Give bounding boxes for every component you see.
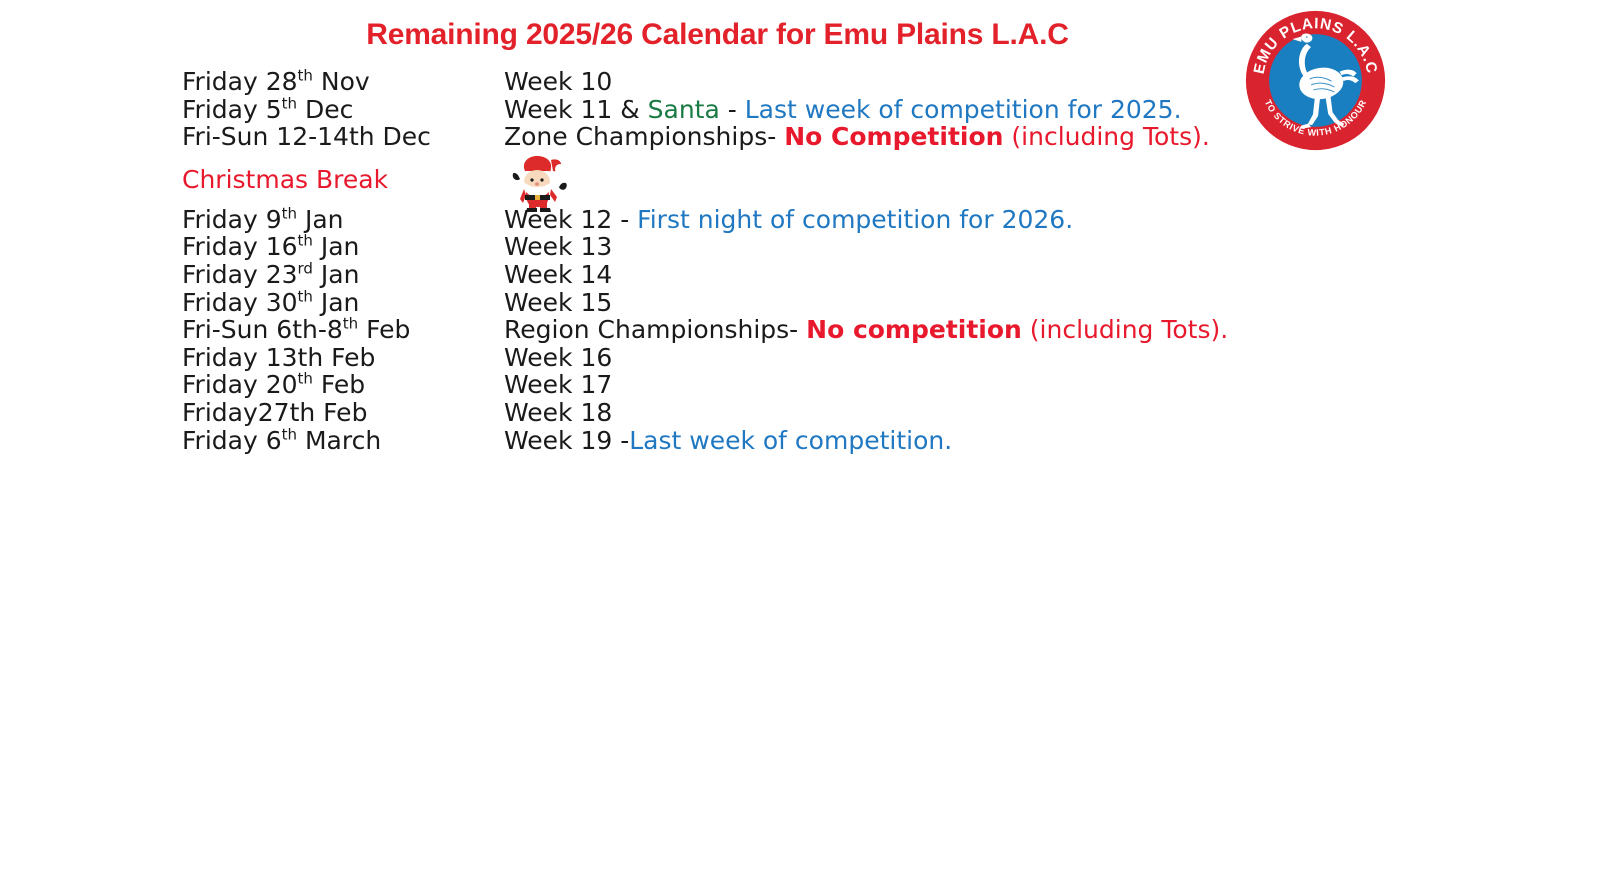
calendar-description-cell: Week 17 <box>504 371 1482 399</box>
description-segment: Week 17 <box>504 370 612 399</box>
description-segment: First night of competition for 2026. <box>637 205 1073 234</box>
calendar-description-cell: Week 15 <box>504 289 1482 317</box>
calendar-row: Friday 6th MarchWeek 19 -Last week of co… <box>182 427 1482 455</box>
description-segment: Week 13 <box>504 232 612 261</box>
description-segment: Week 10 <box>504 67 612 96</box>
calendar-row: Fri-Sun 6th-8th FebRegion Championships-… <box>182 316 1482 344</box>
description-segment: Zone Championships- <box>504 122 784 151</box>
christmas-break-label: Christmas Break <box>182 151 504 194</box>
calendar-description-cell: Week 16 <box>504 344 1482 372</box>
description-segment: (including Tots). <box>1022 315 1228 344</box>
calendar-description-cell: Week 11 & Santa - Last week of competiti… <box>504 96 1482 124</box>
calendar-row: Friday 30th JanWeek 15 <box>182 289 1482 317</box>
calendar-description-cell: Region Championships- No competition (in… <box>504 316 1482 344</box>
calendar-block-2026: Friday 9th JanWeek 12 - First night of c… <box>182 206 1482 454</box>
calendar-description-cell: Week 19 -Last week of competition. <box>504 427 1482 455</box>
calendar-date-cell: Fri-Sun 6th-8th Feb <box>182 316 504 344</box>
calendar-description-cell: Zone Championships- No Competition (incl… <box>504 123 1482 151</box>
calendar-date-cell: Friday 20th Feb <box>182 371 504 399</box>
description-segment: Week 15 <box>504 288 612 317</box>
description-segment: Week 18 <box>504 398 612 427</box>
description-segment: Week 11 & <box>504 95 648 124</box>
ordinal-suffix: th <box>298 370 313 388</box>
ordinal-suffix: th <box>282 94 297 112</box>
ordinal-suffix: th <box>298 232 313 250</box>
calendar-description-cell: Week 13 <box>504 233 1482 261</box>
calendar-row: Fri-Sun 12-14th DecZone Championships- N… <box>182 123 1482 151</box>
description-segment: (including Tots). <box>1003 122 1209 151</box>
description-segment: Santa <box>648 95 720 124</box>
calendar-date-cell: Friday 30th Jan <box>182 289 504 317</box>
ordinal-suffix: th <box>282 425 297 443</box>
ordinal-suffix: th <box>343 315 358 333</box>
calendar-date-cell: Friday 9th Jan <box>182 206 504 234</box>
calendar-description-cell: Week 10 <box>504 68 1482 96</box>
calendar-row: Friday 13th FebWeek 16 <box>182 344 1482 372</box>
calendar-date-cell: Friday 23rd Jan <box>182 261 504 289</box>
calendar-date-cell: Friday 16th Jan <box>182 233 504 261</box>
description-segment: No Competition <box>784 122 1003 151</box>
calendar-date-cell: Friday 28th Nov <box>182 68 504 96</box>
ordinal-suffix: th <box>298 287 313 305</box>
calendar-description-cell: Week 14 <box>504 261 1482 289</box>
calendar-row: Friday 28th NovWeek 10 <box>182 68 1482 96</box>
calendar-row: Friday 16th JanWeek 13 <box>182 233 1482 261</box>
calendar-block-2025: Friday 28th NovWeek 10Friday 5th DecWeek… <box>182 68 1482 151</box>
description-segment: Last week of competition for 2025. <box>745 95 1182 124</box>
calendar-date-cell: Friday 13th Feb <box>182 344 504 372</box>
calendar-row: Friday27th FebWeek 18 <box>182 399 1482 427</box>
description-segment: Week 19 - <box>504 426 629 455</box>
calendar-date-cell: Fri-Sun 12-14th Dec <box>182 123 504 151</box>
description-segment: Last week of competition. <box>629 426 952 455</box>
ordinal-suffix: th <box>298 67 313 85</box>
description-segment: Week 14 <box>504 260 612 289</box>
description-segment: - <box>720 95 745 124</box>
calendar-row: Friday 5th DecWeek 11 & Santa - Last wee… <box>182 96 1482 124</box>
page-title: Remaining 2025/26 Calendar for Emu Plain… <box>0 18 1435 52</box>
calendar-description-cell: Week 18 <box>504 399 1482 427</box>
ordinal-suffix: rd <box>298 260 313 278</box>
ordinal-suffix: th <box>282 204 297 222</box>
description-segment: Region Championships- <box>504 315 806 344</box>
calendar-row: Friday 23rd JanWeek 14 <box>182 261 1482 289</box>
calendar-date-cell: Friday27th Feb <box>182 399 504 427</box>
description-segment: No competition <box>806 315 1022 344</box>
calendar-row: Friday 20th FebWeek 17 <box>182 371 1482 399</box>
calendar-date-cell: Friday 5th Dec <box>182 96 504 124</box>
calendar-table: Friday 28th NovWeek 10Friday 5th DecWeek… <box>182 68 1482 454</box>
description-segment: Week 16 <box>504 343 612 372</box>
calendar-row: Friday 9th JanWeek 12 - First night of c… <box>182 206 1482 234</box>
christmas-break-row: Christmas Break <box>182 151 1482 206</box>
santa-claus-icon <box>504 151 574 211</box>
calendar-description-cell: Week 12 - First night of competition for… <box>504 206 1482 234</box>
calendar-date-cell: Friday 6th March <box>182 427 504 455</box>
